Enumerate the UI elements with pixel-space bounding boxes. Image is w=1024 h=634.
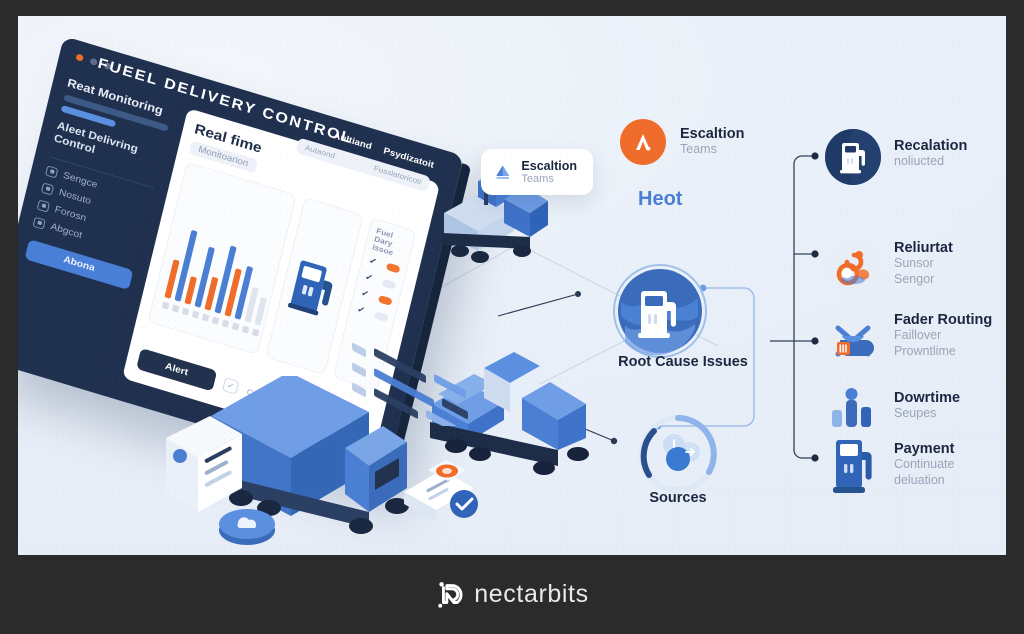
letter-a-icon [620,119,666,165]
issue-badge-orange [386,262,401,273]
escalation-triangle-icon [493,160,512,184]
fuel-pump-circle-icon [613,264,707,358]
nectarbits-logo-icon [435,580,465,610]
right-item-title: Dowrtime [894,390,960,406]
issue-bar [369,310,370,315]
right-item-dowrtime[interactable] [828,384,878,439]
sidebar-item-label: Forosn [54,204,88,223]
right-item-title: Recalation [894,138,967,154]
right-item-reliurtat[interactable] [824,238,882,301]
issue-bar [377,278,378,283]
right-item-payment-label: Payment Continuate deluation [894,441,954,488]
check-icon: ✓ [368,255,378,267]
clock-icon [33,216,46,229]
section-heading: Heot [638,188,682,211]
right-item-subtitle: Seupes [894,406,960,422]
issue-bar [373,294,374,299]
right-item-reliurtat-label: Reliurtat Sunsor Sengor [894,240,953,287]
issue-bar [381,261,382,266]
right-item-payment[interactable] [830,434,882,501]
sidebar-item-label: Nosuto [58,187,92,206]
failover-routing-icon [824,312,882,370]
escalation-card[interactable]: Escaltion Teams [481,149,593,195]
bar-10 [254,297,267,326]
right-item-fader-routing-label: Fader Routing Faillover Prowntlime [894,312,992,359]
escalation-node-label: Escaltion Teams [680,126,744,158]
fuel-pump-blue-icon [830,434,882,496]
sidebar-item-label: Sengce [62,170,98,190]
issues-list-heading: Fuel Dary Issoe [372,227,408,260]
right-item-subtitle: Continuate deluation [894,457,954,488]
sidebar-item-label: Abgcot [50,221,84,240]
sidebar-subheading: Aleet Delivring Control [52,119,170,178]
right-item-subtitle: noliucted [894,154,967,170]
check-square-icon [45,165,58,178]
right-item-subtitle: Faillover Prowntlime [894,328,992,359]
gear-badge-icon [424,454,470,494]
root-cause-issues-caption: Root Cause Issues [618,354,748,370]
issue-badge-orange [378,294,393,305]
right-item-title: Payment [894,441,954,457]
right-item-recalation[interactable] [824,128,882,191]
brand-bar: nectarbits [0,555,1024,634]
sources-caption: Sources [632,490,724,506]
grid-icon [37,199,50,212]
issue-row[interactable]: ✓ [364,272,397,291]
issue-badge-grey [382,278,397,289]
check-icon: ✓ [356,304,366,316]
sources-donut-icon [632,408,724,500]
escalation-node-title: Escaltion [680,126,744,142]
right-item-title: Reliurtat [894,240,953,256]
screenshot-frame: FUEEL DELIVERY CONTROL Reat Monitoring A… [0,0,1024,634]
ground-data-rows [348,316,548,426]
right-item-recalation-label: Recalation noliucted [894,138,967,170]
root-cause-issues-node[interactable] [613,264,707,363]
fuel-pump-icon [286,252,344,321]
bar-chart-icon [828,384,878,434]
escalation-node-subtitle: Teams [680,142,744,158]
escalation-card-subtitle: Teams [521,173,577,185]
illustration-canvas: FUEEL DELIVERY CONTROL Reat Monitoring A… [18,16,1006,555]
brand-name: nectarbits [474,580,588,609]
check-icon: ✓ [360,288,370,300]
right-item-title: Fader Routing [894,312,992,328]
right-item-fader-routing[interactable] [824,312,882,375]
issue-row[interactable]: ✓ [360,288,393,307]
right-item-subtitle: Sunsor Sengor [894,256,953,287]
check-icon: ✓ [364,272,374,284]
box-icon [41,182,54,195]
fuel-pump-dark-circle-icon [824,128,882,186]
sensor-gear-icon [824,238,882,296]
escalation-card-title: Escaltion [521,159,577,173]
cloud-coin-icon [214,498,280,548]
right-item-dowrtime-label: Dowrtime Seupes [894,390,960,422]
